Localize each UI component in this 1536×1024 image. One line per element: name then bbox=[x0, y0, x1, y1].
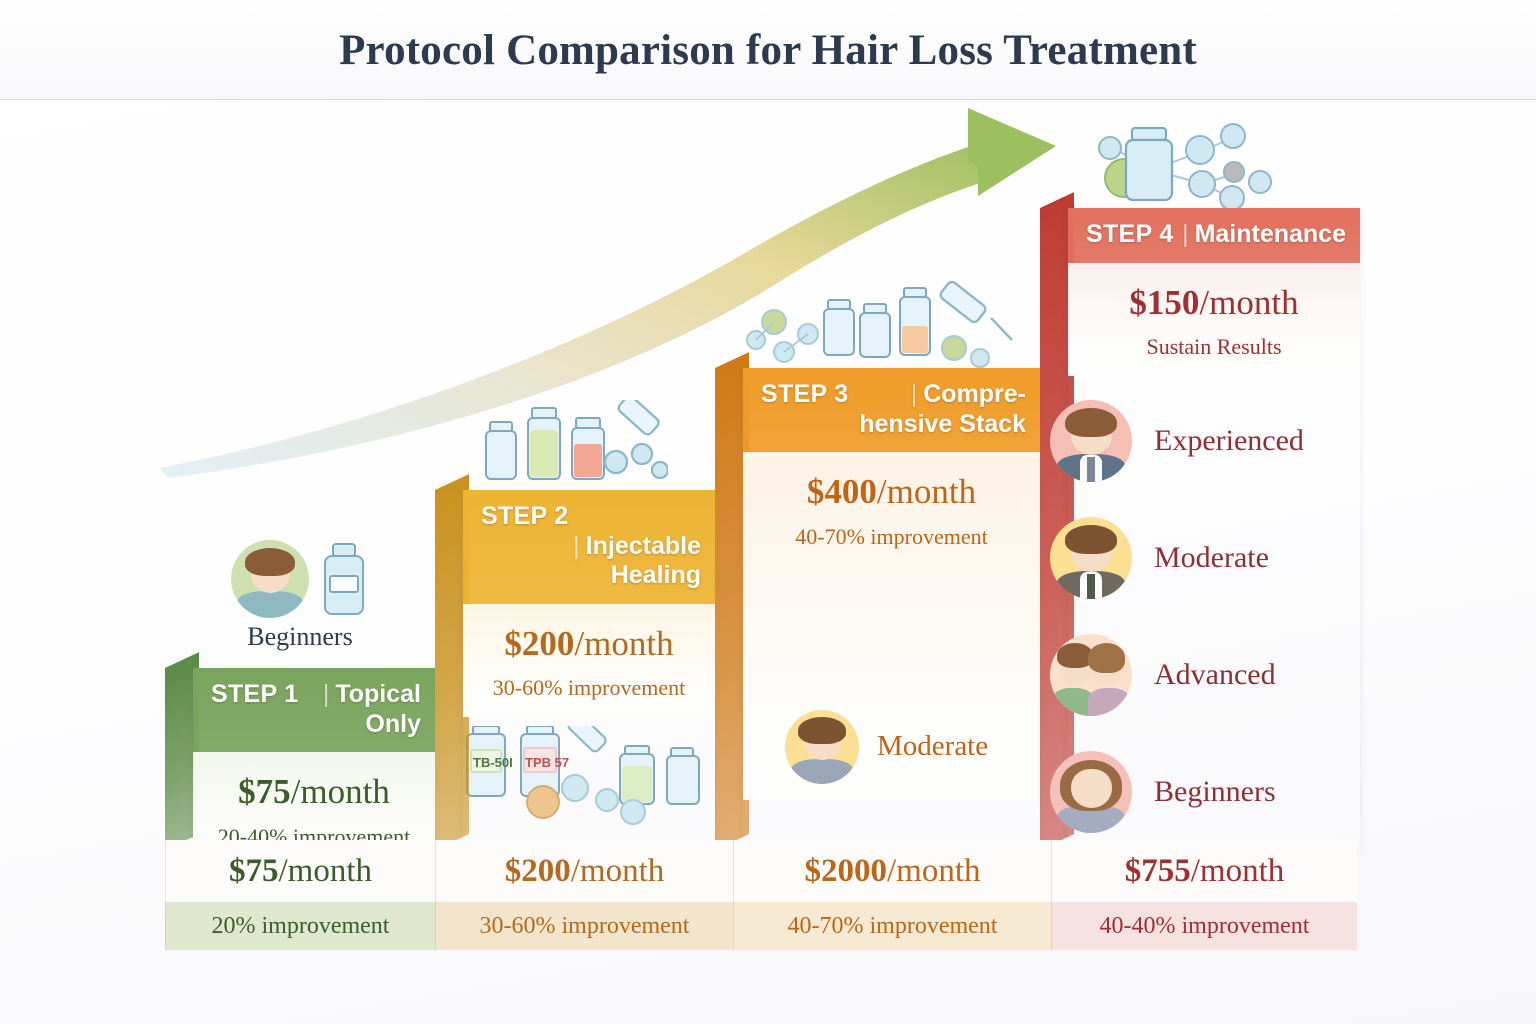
audience-label-moderate: Moderate bbox=[1154, 541, 1269, 575]
audience-label-experienced: Experienced bbox=[1154, 424, 1304, 458]
summary-col-2: $200/month 30-60% improvement bbox=[435, 840, 733, 950]
summary-price-per-1: /month bbox=[278, 853, 372, 890]
summary-improvement-4: 40-40% improvement bbox=[1051, 902, 1357, 950]
audience-row-beginners[interactable]: Beginners bbox=[1050, 733, 1360, 850]
vials-syringe-icon-step2 bbox=[478, 400, 668, 490]
step-4-improvement: Sustain Results bbox=[1084, 334, 1344, 360]
step-4-price-value: $150 bbox=[1129, 283, 1199, 322]
summary-price-2: $200/month bbox=[435, 840, 733, 902]
step-1-price-per: /month bbox=[291, 772, 390, 811]
step-2-divider: | bbox=[567, 532, 586, 560]
male-avatar-icon bbox=[785, 710, 859, 784]
step-2-improvement: 30-60% improvement bbox=[479, 675, 699, 701]
summary-strips: $75/month 20% improvement $200/month 30-… bbox=[165, 840, 1357, 950]
summary-improvement-2: 30-60% improvement bbox=[435, 902, 733, 950]
step-block-1[interactable]: STEP 1|Topical Only $75/month 20-40% imp… bbox=[165, 668, 435, 850]
step-1-divider: | bbox=[317, 680, 336, 708]
step-4-face: $150/month Sustain Results bbox=[1068, 263, 1360, 377]
step-1-price: $75/month bbox=[209, 774, 419, 811]
audience-row-experienced[interactable]: Experienced bbox=[1050, 382, 1360, 499]
step-1-number: STEP 1 bbox=[211, 680, 299, 710]
audience-label-beginners: Beginners bbox=[1154, 775, 1276, 809]
summary-price-per-2: /month bbox=[571, 853, 665, 890]
audience-panel: Experienced Moderate Advanced bbox=[1050, 382, 1360, 850]
audience-row-advanced[interactable]: Advanced bbox=[1050, 616, 1360, 733]
female-avatar-icon bbox=[1050, 751, 1132, 833]
audience-row-moderate[interactable]: Moderate bbox=[1050, 499, 1360, 616]
step-4-price: $150/month bbox=[1084, 285, 1344, 322]
step-4-name: Maintenance bbox=[1195, 220, 1346, 248]
step-4-divider: | bbox=[1176, 220, 1195, 248]
couple-avatar-icon bbox=[1050, 634, 1132, 716]
summary-price-4: $755/month bbox=[1051, 840, 1357, 902]
step-3-header: STEP 3|Compre-hensive Stack bbox=[743, 368, 1040, 452]
summary-price-1: $75/month bbox=[165, 840, 435, 902]
male-avatar-icon bbox=[231, 540, 309, 618]
step-2-name: Injectable Healing bbox=[586, 532, 701, 590]
step-3-price-value: $400 bbox=[807, 472, 877, 511]
step-2-header: STEP 2|Injectable Healing bbox=[463, 490, 715, 604]
step-3-name: Compre-hensive Stack bbox=[859, 380, 1026, 438]
step-2-number: STEP 2 bbox=[481, 502, 569, 532]
step-4-header: STEP 4|Maintenance bbox=[1068, 208, 1360, 263]
summary-price-per-4: /month bbox=[1191, 853, 1285, 890]
summary-price-value-1: $75 bbox=[229, 853, 279, 890]
audience-label-advanced: Advanced bbox=[1154, 658, 1276, 692]
step-1-name: Topical Only bbox=[335, 680, 421, 738]
page-title: Protocol Comparison for Hair Loss Treatm… bbox=[0, 26, 1536, 75]
summary-price-value-4: $755 bbox=[1125, 853, 1191, 890]
step-3-face: $400/month 40-70% improvement Moderate bbox=[743, 452, 1040, 800]
step-1-body: STEP 1|Topical Only $75/month 20-40% imp… bbox=[193, 668, 435, 850]
summary-improvement-3: 40-70% improvement bbox=[733, 902, 1051, 950]
step-4-number: STEP 4 bbox=[1086, 220, 1174, 250]
title-bar: Protocol Comparison for Hair Loss Treatm… bbox=[0, 0, 1536, 100]
step-2-body: STEP 2|Injectable Healing $200/month 30-… bbox=[463, 490, 715, 850]
step-2-price-value: $200 bbox=[504, 624, 574, 663]
step-3-number: STEP 3 bbox=[761, 380, 849, 410]
step-3-price: $400/month bbox=[759, 474, 1024, 511]
step-3-divider: | bbox=[905, 380, 924, 408]
businessman-avatar-icon bbox=[1050, 400, 1132, 482]
summary-improvement-1: 20% improvement bbox=[165, 902, 435, 950]
step-2-price: $200/month bbox=[479, 626, 699, 663]
beginners-chip-label: Beginners bbox=[200, 622, 400, 652]
step-3-improvement: 40-70% improvement bbox=[759, 524, 1024, 550]
infographic-root: Protocol Comparison for Hair Loss Treatm… bbox=[0, 0, 1536, 1024]
summary-col-3: $2000/month 40-70% improvement bbox=[733, 840, 1051, 950]
step-3-price-per: /month bbox=[877, 472, 976, 511]
step-2-price-per: /month bbox=[574, 624, 673, 663]
summary-price-value-2: $200 bbox=[505, 853, 571, 890]
bottle-icon bbox=[319, 542, 369, 618]
summary-col-1: $75/month 20% improvement bbox=[165, 840, 435, 950]
vials-syringe-molecule-icon-step3 bbox=[744, 278, 1034, 374]
step-block-3[interactable]: STEP 3|Compre-hensive Stack $400/month 4… bbox=[715, 368, 1040, 850]
step-block-2[interactable]: STEP 2|Injectable Healing $200/month 30-… bbox=[435, 490, 715, 850]
summary-price-3: $2000/month bbox=[733, 840, 1051, 902]
step-4-price-per: /month bbox=[1199, 283, 1298, 322]
summary-price-per-3: /month bbox=[887, 853, 981, 890]
step-3-body: STEP 3|Compre-hensive Stack $400/month 4… bbox=[743, 368, 1040, 850]
step-1-price-value: $75 bbox=[238, 772, 291, 811]
summary-col-4: $755/month 40-40% improvement bbox=[1051, 840, 1357, 950]
summary-price-value-3: $2000 bbox=[804, 853, 887, 890]
bottle-molecule-icon bbox=[1082, 118, 1272, 210]
step-2-face: $200/month 30-60% improvement bbox=[463, 604, 715, 718]
step-1-header: STEP 1|Topical Only bbox=[193, 668, 435, 752]
male-avatar-icon bbox=[1050, 517, 1132, 599]
beginners-chip: Beginners bbox=[200, 540, 400, 652]
step-3-audience-label: Moderate bbox=[877, 730, 988, 763]
step-3-audience-row: Moderate bbox=[759, 700, 1024, 784]
